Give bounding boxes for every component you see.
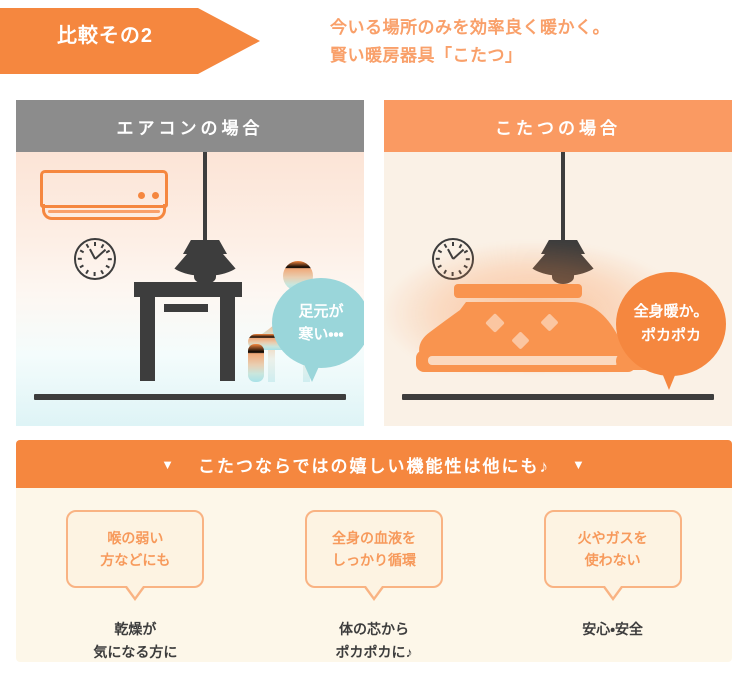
wall-clock-icon — [74, 238, 116, 280]
air-conditioner-icon — [40, 170, 168, 222]
feature-bubble-line-2: しっかり循環 — [313, 549, 435, 571]
feature-bubble: 喉の弱い 方などにも — [66, 510, 204, 588]
headline-line-2: 賢い暖房器具「こたつ」 — [330, 42, 610, 70]
speech-bubble-cold: 足元が 寒い・・・ — [272, 278, 364, 368]
panel-kotatsu: こたつの場合 — [384, 100, 732, 426]
feature-bubble-line-1: 喉の弱い — [74, 527, 196, 549]
floor-line — [34, 394, 346, 400]
features-list: 喉の弱い 方などにも 乾燥が 気になる方に 全身の血液を しっかり循環 体の芯か… — [16, 488, 732, 662]
feature-caption-line-2: 気になる方に — [93, 641, 177, 662]
speech-bubble-warm: 全身暖か。 ポカポカ — [616, 272, 726, 376]
feature-caption-line-1: 体の芯から — [336, 618, 413, 641]
speech-bubble-warm-line-2: ポカポカ — [641, 324, 701, 348]
feature-item: 喉の弱い 方などにも 乾燥が 気になる方に — [16, 488, 255, 662]
feature-caption-line-1: 安心・安全 — [582, 618, 643, 641]
speech-bubble-cold-line-2: 寒い・・・ — [298, 323, 343, 346]
feature-caption: 安心・安全 — [582, 618, 643, 641]
speech-bubble-warm-tail — [660, 368, 678, 390]
panel-aircon-title: エアコンの場合 — [16, 100, 364, 152]
header-headline: 今いる場所のみを効率良く暖かく。 賢い暖房器具「こたつ」 — [330, 14, 610, 70]
feature-caption: 乾燥が 気になる方に — [93, 618, 177, 662]
features-section: ▼ こたつならではの嬉しい機能性は他にも♪ ▼ 喉の弱い 方などにも 乾燥が 気… — [16, 440, 732, 662]
features-banner: ▼ こたつならではの嬉しい機能性は他にも♪ ▼ — [16, 440, 732, 488]
feature-bubble-line-2: 方などにも — [74, 549, 196, 571]
panel-kotatsu-title: こたつの場合 — [384, 100, 732, 152]
feature-bubble-line-1: 全身の血液を — [313, 527, 435, 549]
banner-arrow-left-icon: ▼ — [161, 457, 176, 472]
feature-caption: 体の芯から ポカポカに♪ — [336, 618, 413, 662]
feature-caption-line-1: 乾燥が — [93, 618, 177, 641]
speech-bubble-cold-line-1: 足元が — [298, 300, 343, 323]
page-header: 比較その2 今いる場所のみを効率良く暖かく。 賢い暖房器具「こたつ」 — [0, 0, 748, 82]
feature-caption-line-2: ポカポカに♪ — [336, 641, 413, 662]
feature-bubble-line-2: 使わない — [552, 549, 674, 571]
headline-line-1: 今いる場所のみを効率良く暖かく。 — [330, 14, 610, 42]
speech-bubble-cold-tail — [303, 362, 321, 382]
panel-aircon: エアコンの場合 — [16, 100, 364, 426]
features-banner-text: こたつならではの嬉しい機能性は他にも♪ — [198, 452, 550, 477]
feature-bubble-line-1: 火やガスを — [552, 527, 674, 549]
panel-kotatsu-illustration: 全身暖か。 ポカポカ — [384, 152, 732, 426]
comparison-badge-label: 比較その2 — [0, 0, 210, 66]
floor-line — [402, 394, 714, 400]
comparison-panels: エアコンの場合 — [16, 100, 732, 426]
feature-item: 火やガスを 使わない 安心・安全 — [493, 488, 732, 662]
feature-bubble: 全身の血液を しっかり循環 — [305, 510, 443, 588]
feature-bubble: 火やガスを 使わない — [544, 510, 682, 588]
speech-bubble-warm-line-1: 全身暖か。 — [634, 300, 709, 324]
panel-aircon-illustration: 足元が 寒い・・・ — [16, 152, 364, 426]
banner-arrow-right-icon: ▼ — [572, 457, 587, 472]
feature-item: 全身の血液を しっかり循環 体の芯から ポカポカに♪ — [255, 488, 494, 662]
